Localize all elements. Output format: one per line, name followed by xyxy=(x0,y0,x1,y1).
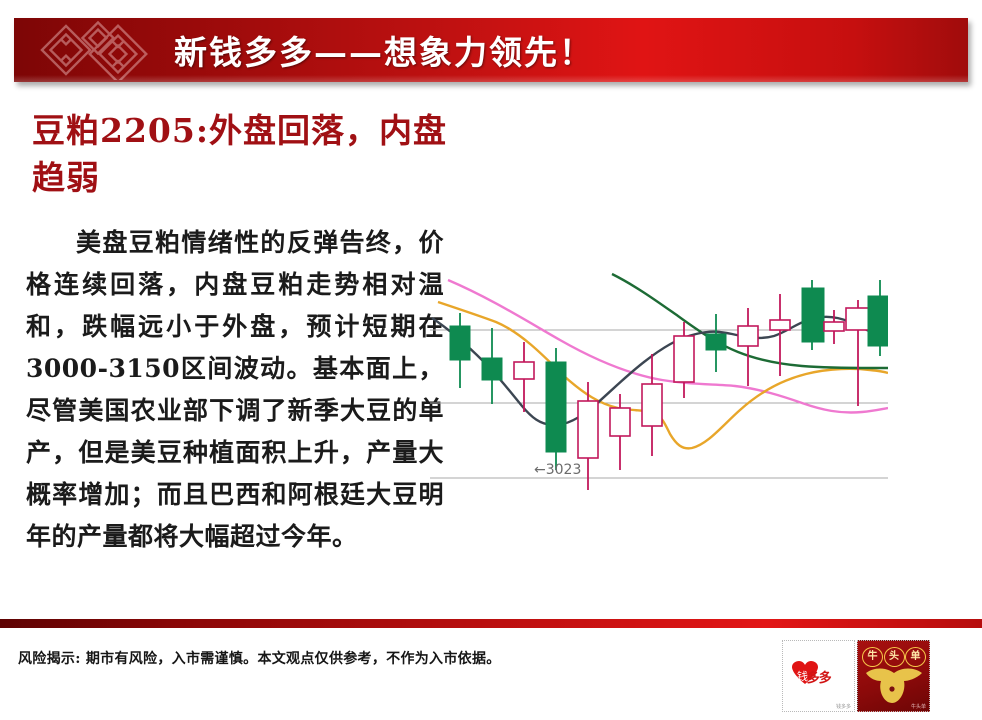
page-title: 豆粕2205:外盘回落，内盘趋弱 xyxy=(32,108,452,202)
candle xyxy=(802,280,824,350)
candle xyxy=(846,300,870,406)
candle xyxy=(706,314,726,372)
header-title: 新钱多多——想象力领先！ xyxy=(174,26,594,74)
stamp-right-chars: 牛 头 单 xyxy=(862,647,926,665)
candle xyxy=(482,328,502,404)
stamp-char-dan: 单 xyxy=(905,647,926,667)
disclaimer-text: 风险揭示: 期市有风险，入市需谨慎。本文观点仅供参考，不作为入市依据。 xyxy=(18,648,501,668)
candle xyxy=(824,310,844,344)
footer-divider xyxy=(0,619,982,628)
candle xyxy=(546,348,566,470)
stamp-qian-char: 钱 xyxy=(797,668,808,684)
price-annotation: ←3023 xyxy=(534,462,581,478)
candle xyxy=(738,308,758,386)
candlestick-chart: ←3023 xyxy=(430,258,888,508)
candle xyxy=(674,322,694,398)
qian-duo-duo-stamp: 钱 多多 钱多多 xyxy=(782,640,855,712)
stamp-right-code: 牛头单 xyxy=(911,703,926,710)
stamp-char-tou: 头 xyxy=(884,647,905,667)
slide-root: 新钱多多——想象力领先！ 豆粕2205:外盘回落，内盘趋弱 美盘豆粕情绪性的反弹… xyxy=(0,0,982,720)
header-banner: 新钱多多——想象力领先！ xyxy=(14,18,968,82)
candle xyxy=(642,354,662,456)
chinese-knot-diamond-logo xyxy=(36,20,164,80)
bull-head-icon xyxy=(864,665,924,707)
niu-tou-dan-stamp: 牛 头 单 牛头单 xyxy=(857,640,930,712)
candle xyxy=(450,313,470,388)
footer-stamps: 钱 多多 钱多多 牛 头 单 牛头单 xyxy=(782,640,932,712)
candle-series xyxy=(450,280,888,490)
stamp-left-code: 钱多多 xyxy=(836,703,851,710)
candle xyxy=(868,280,888,356)
body-paragraph: 美盘豆粕情绪性的反弹告终，价格连续回落，内盘豆粕走势相对温和，跌幅远小于外盘，预… xyxy=(26,222,444,558)
chart-canvas xyxy=(430,258,888,508)
stamp-char-niu: 牛 xyxy=(862,647,883,667)
candle xyxy=(610,394,630,470)
